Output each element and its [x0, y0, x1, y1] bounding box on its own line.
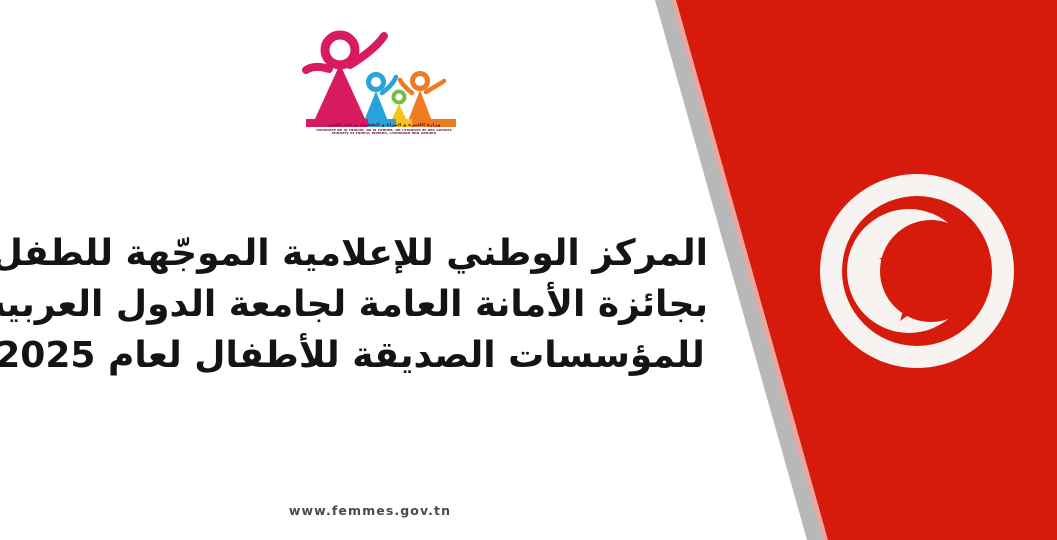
headline-line-1: المركز الوطني للإعلامية الموجّهة للطفل ي… — [0, 228, 708, 279]
logo-child-yellow-head — [394, 92, 405, 103]
flag-crescent-outer — [847, 209, 971, 333]
caption-english: Ministry of Family, Women, Childhood and… — [300, 132, 468, 136]
headline-line-2: بجائزة الأمانة العامة لجامعة الدول العرب… — [0, 279, 708, 330]
logo-adult-arm-left — [306, 67, 329, 70]
logo-child-blue-head — [369, 75, 384, 90]
logo-child-yellow — [391, 92, 407, 122]
logo-adult-body — [314, 64, 366, 121]
flag-crescent-cutout — [880, 220, 982, 322]
logo-child-yellow-body — [391, 104, 407, 121]
logo-child-blue — [364, 75, 396, 122]
flag-star — [879, 219, 987, 321]
ministry-logo-caption: وزارة الأسرة و المرأة و الطفولة و كبار ا… — [300, 123, 468, 136]
headline-line-3: للمؤسسات الصديقة للأطفال لعام 2025 — [0, 330, 708, 381]
website-url: www.femmes.gov.tn — [0, 503, 740, 518]
logo-child-blue-body — [364, 91, 388, 121]
headline: المركز الوطني للإعلامية الموجّهة للطفل ي… — [0, 228, 708, 381]
flag-white-circle — [820, 174, 1014, 368]
logo-child-orange-head — [413, 74, 428, 89]
flag-emblem-group — [820, 174, 1014, 368]
flag-red-field — [676, 0, 1057, 540]
poster-canvas: وزارة الأسرة و المرأة و الطفولة و كبار ا… — [0, 0, 1057, 540]
logo-child-orange — [400, 74, 444, 122]
flag-inner-red-disc — [842, 196, 992, 346]
